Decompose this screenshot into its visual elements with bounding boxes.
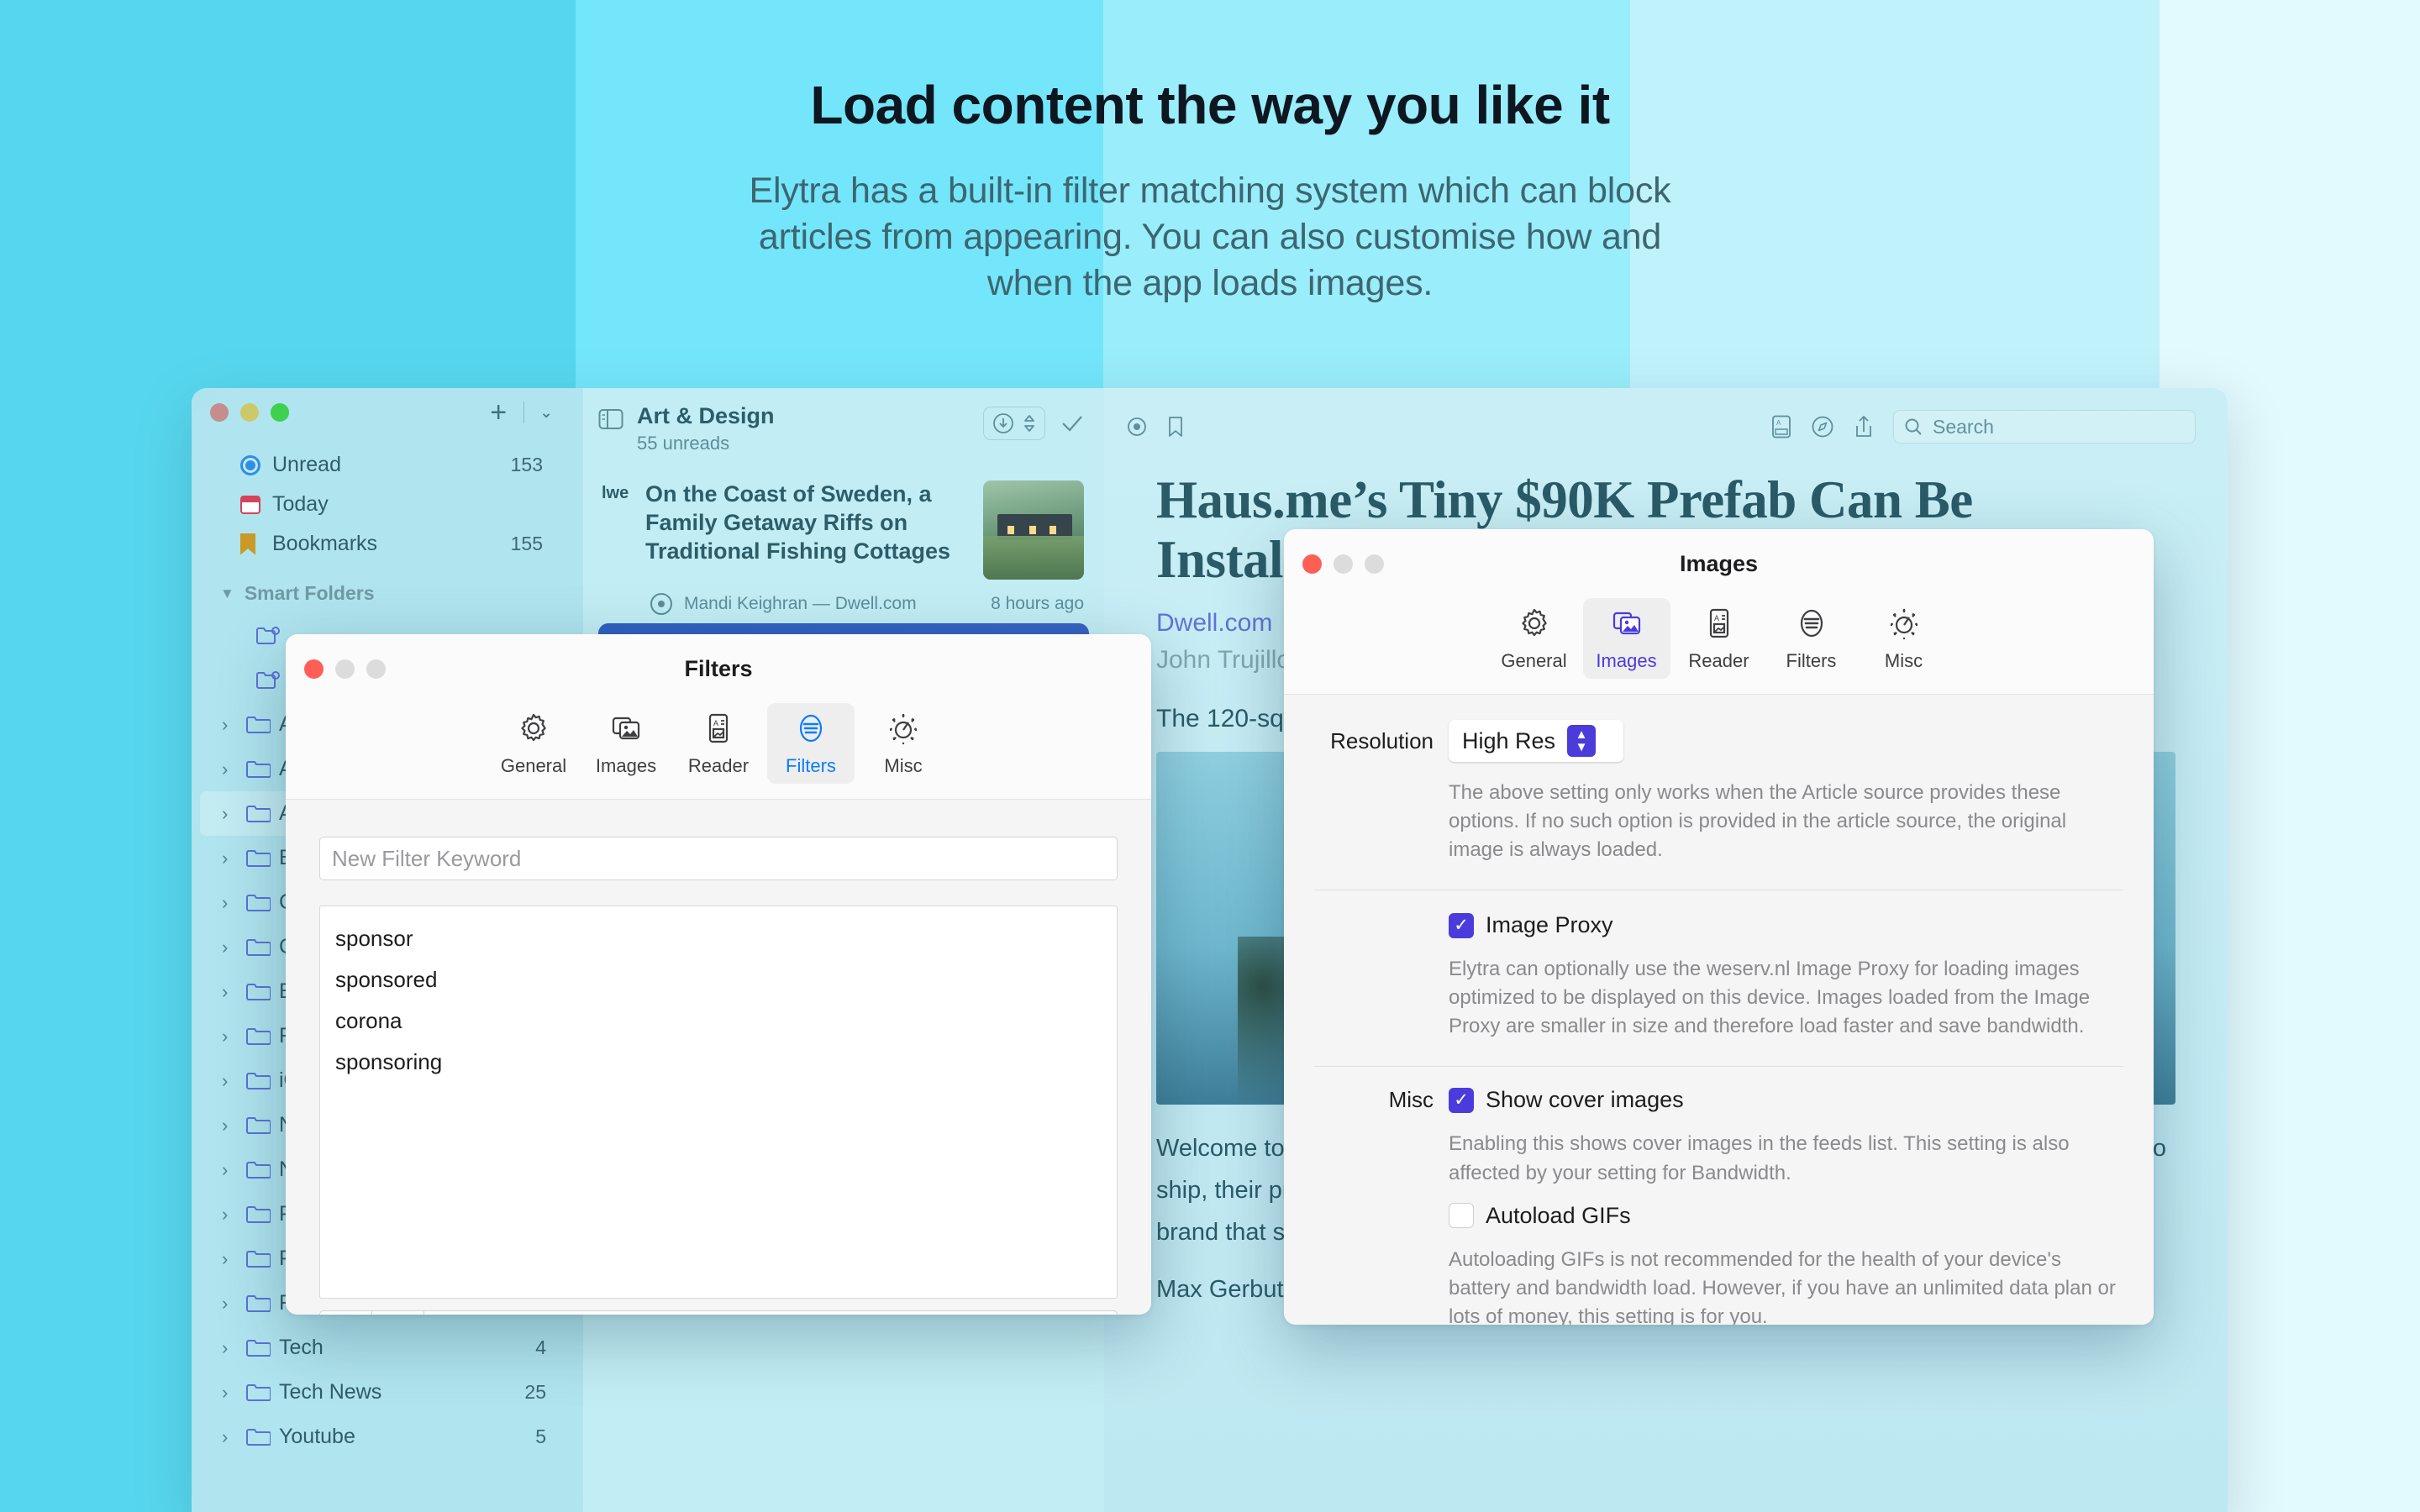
images-pane: Resolution High Res ▲▼ The above setting… [1284, 695, 2154, 1325]
sidebar-top-list: Unread 153 Today Bookmarks 155 [192, 437, 583, 564]
window-traffic-lights[interactable] [304, 659, 386, 679]
cover-images-help: Enabling this shows cover images in the … [1284, 1113, 2154, 1187]
chevron-updown-icon[interactable]: ▲▼ [1567, 725, 1596, 757]
resolution-label: Resolution [1314, 728, 1449, 754]
tab-reader[interactable]: AReader [675, 703, 762, 784]
reader-icon: A [702, 711, 735, 750]
filters-icon [1795, 606, 1828, 645]
add-feed-button[interactable]: + [481, 398, 515, 427]
folder-icon [245, 982, 279, 1002]
search-placeholder: Search [1933, 416, 1994, 438]
reader-icon: A [1702, 606, 1736, 645]
download-icon [992, 412, 1014, 434]
remove-filter-button[interactable]: − [372, 1311, 424, 1315]
chevron-right-icon[interactable]: › [222, 1426, 245, 1448]
filters-preferences-window: Filters GeneralImagesAReaderFiltersMisc … [286, 634, 1151, 1315]
tab-images[interactable]: Images [1583, 598, 1670, 679]
feed-title: Art & Design [637, 403, 970, 429]
chevron-right-icon[interactable]: › [222, 892, 245, 914]
sidebar-toggle-icon[interactable] [598, 408, 623, 434]
folder-icon [245, 1427, 279, 1447]
chevron-right-icon[interactable]: › [222, 1026, 245, 1047]
sidebar-item-today[interactable]: Today [203, 485, 571, 524]
tab-label: Reader [688, 755, 749, 777]
sidebar-item-label: Bookmarks [272, 532, 511, 556]
add-filter-button[interactable]: + [320, 1311, 372, 1315]
smart-folders-header[interactable]: ▼ Smart Folders [192, 564, 583, 613]
folder-icon [245, 1249, 279, 1269]
tab-label: General [1501, 650, 1566, 672]
folder-icon [245, 848, 279, 869]
folder-icon [245, 1383, 279, 1403]
sidebar-folder-label: Tech [279, 1336, 535, 1360]
tab-label: General [501, 755, 566, 777]
list-item-meta: Mandi Keighran — Dwell.com 8 hours ago [583, 580, 1104, 615]
sidebar-folder-row[interactable]: ›Tech4 [200, 1326, 575, 1370]
chevron-right-icon[interactable]: › [222, 1115, 245, 1137]
tab-label: Filters [1786, 650, 1837, 672]
svg-text:A: A [713, 719, 718, 727]
smart-folder-icon [255, 670, 289, 690]
resolution-help: The above setting only works when the Ar… [1284, 762, 2154, 864]
tab-label: Images [596, 755, 656, 777]
sidebar-item-count: 153 [511, 454, 543, 476]
tab-label: Reader [1688, 650, 1749, 672]
tab-misc[interactable]: Misc [860, 703, 947, 784]
window-traffic-lights[interactable] [1302, 554, 1384, 574]
autoload-gifs-checkbox[interactable] [1449, 1203, 1474, 1228]
zoom-button[interactable] [271, 403, 289, 422]
reader-mode-icon[interactable]: A [1770, 414, 1792, 439]
images-icon [609, 711, 643, 750]
filter-keyword-item[interactable]: corona [320, 1000, 1117, 1042]
minimize-button[interactable] [240, 403, 259, 422]
sort-updown-icon [1023, 412, 1036, 434]
sidebar-item-label: Unread [272, 453, 511, 477]
chevron-right-icon[interactable]: › [222, 1337, 245, 1359]
chevron-right-icon[interactable]: › [222, 1204, 245, 1226]
misc-icon [886, 711, 920, 750]
list-item-time: 8 hours ago [991, 594, 1084, 614]
chevron-down-icon: ▼ [220, 585, 234, 602]
screenshot-root: Load content the way you like it Elytra … [0, 0, 2420, 1512]
tab-filters[interactable]: Filters [767, 703, 855, 784]
sidebar-folder-label: Tech News [279, 1380, 524, 1404]
tab-reader[interactable]: AReader [1676, 598, 1763, 679]
folder-icon [245, 1160, 279, 1180]
filters-titlebar: Filters [286, 634, 1151, 703]
filters-pane: New Filter Keyword sponsorsponsoredcoron… [286, 800, 1151, 1315]
sidebar-folder-row[interactable]: ›Tech News25 [200, 1370, 575, 1415]
image-proxy-label: Image Proxy [1486, 912, 1613, 938]
filters-icon [794, 711, 828, 750]
sidebar-item-label: Today [272, 492, 543, 517]
folder-icon [245, 937, 279, 958]
chevron-right-icon[interactable]: › [222, 1070, 245, 1092]
autoload-gifs-label: Autoload GIFs [1486, 1203, 1631, 1229]
safari-open-icon[interactable] [1811, 415, 1834, 438]
list-item-kicker: lwe [602, 480, 632, 580]
article-list-actions [983, 407, 1084, 440]
window-title: Filters [286, 656, 1151, 682]
tab-general[interactable]: General [1491, 598, 1578, 679]
list-item-thumbnail [983, 480, 1084, 580]
chevron-right-icon[interactable]: › [222, 937, 245, 958]
tab-filters[interactable]: Filters [1768, 598, 1855, 679]
filter-keyword-list[interactable]: sponsorsponsoredcoronasponsoring [319, 906, 1118, 1299]
chevron-right-icon[interactable]: › [222, 981, 245, 1003]
image-proxy-help: Elytra can optionally use the weserv.nl … [1284, 938, 2154, 1041]
images-preferences-window: Images GeneralImagesAReaderFiltersMisc R… [1284, 529, 2154, 1325]
bookmark-icon [240, 533, 272, 555]
close-button[interactable] [210, 403, 229, 422]
folder-icon [245, 715, 279, 735]
sort-control[interactable] [983, 407, 1045, 440]
smart-folder-icon [255, 626, 289, 646]
sidebar-item-bookmarks[interactable]: Bookmarks 155 [203, 524, 571, 564]
misc-icon [1887, 606, 1921, 645]
chevron-down-icon[interactable]: ⌄ [533, 403, 560, 423]
chevron-right-icon[interactable]: › [222, 1382, 245, 1404]
autoload-gifs-row[interactable]: Autoload GIFs [1284, 1188, 2154, 1229]
sidebar-folder-count: 25 [524, 1381, 546, 1404]
cover-images-row[interactable]: Misc ✓ Show cover images [1284, 1067, 2154, 1113]
toolbar-divider [523, 402, 524, 423]
folder-icon [245, 1294, 279, 1314]
filter-keyword-item[interactable]: sponsor [320, 918, 1117, 959]
window-title: Images [1284, 551, 2154, 577]
sidebar-folder-row[interactable]: ›Youtube5 [200, 1415, 575, 1459]
zoom-button[interactable] [366, 659, 386, 679]
chevron-right-icon[interactable]: › [222, 1293, 245, 1315]
gear-icon [1518, 606, 1551, 645]
search-icon [1904, 417, 1923, 436]
folder-icon [245, 1116, 279, 1136]
feed-unread-count: 55 unreads [637, 433, 970, 454]
new-filter-keyword-input[interactable]: New Filter Keyword [319, 837, 1118, 880]
unread-ring-icon [650, 593, 672, 615]
image-proxy-row[interactable]: ✓ Image Proxy [1284, 890, 2154, 938]
sidebar-folder-label: Youtube [279, 1425, 535, 1449]
sidebar-folder-count: 4 [535, 1336, 546, 1359]
preferences-tabbar: GeneralImagesAReaderFiltersMisc [286, 703, 1151, 799]
sidebar-folder-count: 5 [535, 1425, 546, 1448]
tab-misc[interactable]: Misc [1860, 598, 1948, 679]
cover-images-checkbox[interactable]: ✓ [1449, 1088, 1474, 1113]
gear-icon [517, 711, 550, 750]
calendar-icon [240, 496, 272, 514]
misc-label: Misc [1314, 1087, 1449, 1113]
mark-unread-icon[interactable] [1126, 416, 1148, 438]
tab-label: Filters [786, 755, 836, 777]
unread-dot-icon [240, 455, 272, 475]
filter-keyword-item[interactable]: sponsored [320, 959, 1117, 1000]
cover-images-label: Show cover images [1486, 1087, 1684, 1113]
filter-list-footer: + − [319, 1310, 1118, 1315]
sidebar-titlebar: + ⌄ [192, 388, 583, 437]
folder-icon [245, 1026, 279, 1047]
zoom-button[interactable] [1365, 554, 1384, 574]
svg-text:A: A [1776, 419, 1781, 427]
folder-icon [245, 1205, 279, 1225]
bookmark-icon[interactable] [1166, 415, 1185, 438]
paragraph-start: Welcome to [1156, 1135, 1285, 1162]
folder-icon [245, 759, 279, 780]
images-titlebar: Images [1284, 529, 2154, 598]
preferences-tabbar: GeneralImagesAReaderFiltersMisc [1284, 598, 2154, 694]
chevron-right-icon[interactable]: › [222, 1159, 245, 1181]
images-icon [1610, 606, 1644, 645]
folder-icon [245, 1071, 279, 1091]
chevron-right-icon[interactable]: › [222, 714, 245, 736]
tab-images[interactable]: Images [582, 703, 670, 784]
detail-toolbar: A Search [1104, 388, 2228, 465]
share-icon[interactable] [1853, 414, 1875, 439]
minimize-button[interactable] [335, 659, 355, 679]
list-item-headline: On the Coast of Sweden, a Family Getaway… [645, 480, 970, 565]
tab-general[interactable]: General [490, 703, 577, 784]
folder-icon [245, 893, 279, 913]
image-proxy-checkbox[interactable]: ✓ [1449, 913, 1474, 938]
resolution-select[interactable]: High Res ▲▼ [1449, 720, 1623, 762]
svg-text:A: A [1714, 614, 1719, 622]
close-button[interactable] [304, 659, 324, 679]
tab-label: Images [1596, 650, 1656, 672]
minimize-button[interactable] [1334, 554, 1353, 574]
tab-label: Misc [1885, 650, 1923, 672]
list-item[interactable]: lwe On the Coast of Sweden, a Family Get… [583, 465, 1104, 580]
close-button[interactable] [1302, 554, 1322, 574]
tab-label: Misc [884, 755, 922, 777]
autoload-gifs-help: Autoloading GIFs is not recommended for … [1284, 1229, 2154, 1325]
article-list-header: Art & Design 55 unreads [583, 388, 1104, 465]
chevron-right-icon[interactable]: › [222, 803, 245, 825]
chevron-right-icon[interactable]: › [222, 759, 245, 780]
filter-keyword-item[interactable]: sponsoring [320, 1042, 1117, 1083]
window-traffic-lights[interactable] [210, 403, 289, 422]
chevron-right-icon[interactable]: › [222, 848, 245, 869]
folder-icon [245, 1338, 279, 1358]
search-input[interactable]: Search [1893, 410, 2196, 444]
resolution-row: Resolution High Res ▲▼ [1284, 720, 2154, 762]
smart-folders-label: Smart Folders [245, 582, 375, 605]
chevron-right-icon[interactable]: › [222, 1248, 245, 1270]
resolution-value: High Res [1462, 728, 1555, 754]
list-item-author: Mandi Keighran — Dwell.com [684, 594, 917, 614]
folder-icon [245, 804, 279, 824]
mark-read-check-icon[interactable] [1060, 412, 1084, 434]
sidebar-item-count: 155 [511, 533, 543, 555]
sidebar-item-unread[interactable]: Unread 153 [203, 445, 571, 485]
